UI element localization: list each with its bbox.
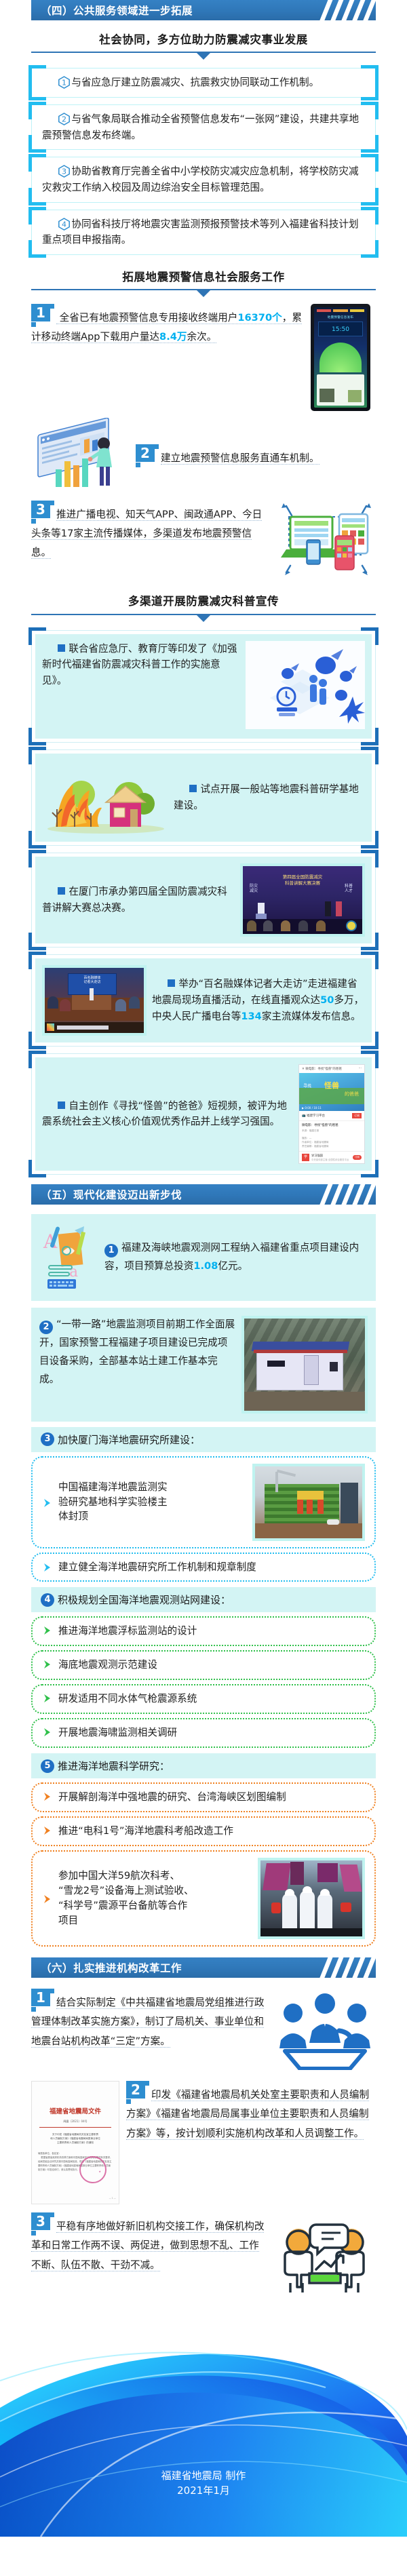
group-head-5: 5推进海洋地震科学研究： [31, 1753, 376, 1778]
construction-site-photo [252, 1464, 365, 1541]
e2-text: 印发《福建省地震局机关处室主要职责和人员编制方案》《福建省地震局局属事业单位主要… [126, 2089, 369, 2140]
b3-text: 推进广播电视、知天气APP、闽政通APP、今日头条等17家主流传播媒体，多渠道发… [31, 509, 262, 558]
group-head-4: 4积极规划全国海洋地震观测站网建设： [31, 1587, 376, 1612]
numeral-badge-3: 3 [31, 501, 54, 524]
earthquake-warning-terminal-photo: 地震预警信息发布 15:50 [311, 304, 376, 411]
slash-decoration-icon [319, 1184, 376, 1205]
arrow-row-5-2: 推进“电科1号”海洋地震科考船改造工作 [31, 1816, 376, 1846]
footer-credit-line-1: 福建省地震局 制作 [0, 2468, 407, 2484]
subheading-warning-service: 拓展地震预警信息社会服务工作 [31, 270, 376, 298]
c2-text: 试点开展一般站等地震科普研学基地建设。 [174, 783, 359, 811]
hex-number-icon-3: 3 [58, 165, 71, 178]
slash-decoration-icon [319, 0, 376, 20]
heading-rule [31, 289, 376, 298]
c4-value-media-count: 134 [241, 1011, 261, 1022]
arrow-5-2-text: 推进“电科1号”海洋地震科考船改造工作 [58, 1824, 233, 1839]
square-bullet-icon [58, 887, 65, 895]
arrow-4-4-text: 开展地震海啸监测相关调研 [58, 1725, 177, 1740]
footer-credit-line-2: 2021年1月 [0, 2483, 407, 2499]
seismic-station-building-photo [241, 1316, 368, 1413]
svg-text:3: 3 [62, 168, 66, 176]
b1-value-terminals: 16370个 [237, 312, 282, 324]
slash-decoration-icon [319, 1957, 376, 1978]
b1-text-part-4: 余次。 [187, 331, 217, 343]
chevron-right-icon [42, 1693, 53, 1704]
svg-text:2: 2 [62, 115, 66, 124]
arrow-row-5-3: 参加中国大洋59航次科考、“雪龙2号”设备海上测试验收、“科学号”震源平台备航等… [31, 1850, 376, 1947]
svg-text:4: 4 [62, 220, 66, 229]
arrow-row-4-2: 海底地震观测示范建设 [31, 1650, 376, 1680]
numeral-badge-2: 2 [126, 2081, 149, 2104]
square-bullet-icon [189, 785, 197, 792]
bracket-card-a1: 1 与省应急厅建立防震减灾、抗震救灾协同联动工作机制。 [31, 68, 376, 98]
group-4-title: 积极规划全国海洋地震观测站网建设： [58, 1593, 231, 1607]
speech-contest-stage-photo: 第四届全国防震减灾科普讲解大赛决赛 防灾减灾 科普人才 [240, 863, 365, 937]
press-conference-photo: 百名融媒体记者大走访 [42, 965, 147, 1036]
footer-credit: 福建省地震局 制作 2021年1月 [0, 2468, 407, 2499]
square-bullet-icon [58, 1101, 65, 1109]
chevron-right-icon [42, 1625, 53, 1636]
circle-number-icon-1: 1 [104, 1244, 118, 1257]
d1-text-part-2: 亿元。 [218, 1260, 248, 1272]
bracket-card-a2: 2 与省气象局联合推动全省预警信息发布“一张网”建设，共建共享地震预警信息发布终… [31, 104, 376, 150]
hex-number-icon-1: 1 [58, 76, 71, 89]
block-b-item-1: 1 全省已有地震预警信息专用接收终端用户16370个，累计移动终端App下载用户… [31, 304, 376, 411]
heading-rule [31, 614, 376, 623]
data-dashboard-illustration [31, 418, 132, 494]
hex-number-icon-4: 4 [58, 218, 71, 231]
group-5-title: 推进海洋地震科学研究： [58, 1759, 170, 1773]
chevron-right-icon [42, 1727, 53, 1738]
hex-number-icon-2: 2 [58, 113, 71, 125]
square-bullet-icon [168, 979, 175, 987]
section-header-bar-6: （六）扎实推进机构改革工作 [31, 1957, 376, 1978]
group-3-title: 加快厦门海洋地震研究所建设： [58, 1432, 200, 1447]
block-b-item-2: 2 建立地震预警信息服务直通车机制。 [31, 418, 376, 494]
caret-down-icon [196, 290, 211, 297]
arrow-3-1-text: 中国福建海洋地震监测实验研究基地科学实验楼主体封顶 [58, 1480, 174, 1525]
research-crew-photo [258, 1858, 365, 1939]
numeral-badge-1: 1 [31, 304, 54, 327]
short-video-app-screenshot: ✕ 微电影：寻找"怪兽"的爸爸⋯ 怪兽 寻找 的爸爸 ▶ 0:00 / 10:1… [298, 1064, 365, 1164]
chevron-right-icon [42, 1825, 53, 1836]
arrow-5-3-text: 参加中国大洋59航次科考、“雪龙2号”设备海上测试验收、“科学号”震源平台备航等… [58, 1869, 194, 1928]
meeting-people-icon [274, 1989, 376, 2073]
arrow-row-3-1: 中国福建海洋地震监测实验研究基地科学实验楼主体封顶 [31, 1456, 376, 1548]
arrow-row-4-4: 开展地震海啸监测相关调研 [31, 1718, 376, 1748]
numeral-badge-1: 1 [31, 1989, 54, 2012]
arrow-row-3-2: 建立健全海洋地震研究所工作机制和规章制度 [31, 1553, 376, 1582]
arrow-row-4-3: 研发适用不同水体气枪震源系统 [31, 1684, 376, 1714]
document-title: 福建省地震局文件 [38, 2106, 113, 2115]
subheading-social-collaboration: 社会协同，多方位助力防震减灾事业发展 [31, 33, 376, 61]
chevron-right-icon [42, 1659, 53, 1670]
arrow-4-2-text: 海底地震观测示范建设 [58, 1658, 157, 1673]
arrow-3-2-text: 建立健全海洋地震研究所工作机制和规章制度 [58, 1560, 256, 1575]
circle-number-icon-5: 5 [41, 1759, 54, 1773]
b2-text: 建立地震预警信息服务直通车机制。 [161, 452, 319, 465]
arrow-5-1-text: 开展解剖海洋中强地震的研究、台湾海峡区划图编制 [58, 1790, 286, 1805]
chevron-right-icon [42, 1498, 53, 1508]
section-title-4: （四）公共服务领域进一步拓展 [31, 3, 193, 18]
c5-text: 自主创作《寻找“怪兽”的爸爸》短视频，被评为地震系统社会主义核心价值观优秀作品并… [42, 1100, 287, 1128]
card-a1-text: 与省应急厅建立防震减灾、抗震救灾协同联动工作机制。 [71, 77, 319, 88]
block-b-item-3: 3 推进广播电视、知天气APP、闽政通APP、今日头条等17家主流传播媒体，多渠… [31, 501, 376, 585]
arrow-row-4-1: 推进海洋地震浮标监测站的设计 [31, 1616, 376, 1646]
arrow-row-5-1: 开展解剖海洋中强地震的研究、台湾海峡区划图编制 [31, 1782, 376, 1812]
e1-text: 结合实际制定《中共福建省地震局党组推进行政管理体制改革实施方案》，制订了局机关、… [31, 1997, 264, 2048]
b1-value-downloads: 8.4万 [159, 331, 187, 343]
arrow-4-1-text: 推进海洋地震浮标监测站的设计 [58, 1624, 197, 1639]
b1-text-part-0: 全省已有地震预警信息专用接收终端用户 [60, 312, 238, 324]
arrow-4-3-text: 研发适用不同水体气枪震源系统 [58, 1692, 197, 1706]
block-e-item-2: 福建省地震局文件 闽震〔2021〕04号 关于印发《福建省地震局机关处室主要职责… [31, 2081, 376, 2204]
circle-number-icon-4: 4 [41, 1593, 54, 1607]
bracket-card-a3: 3 协助省教育厅完善全省中小学校防灾减灾应急机制，将学校防灾减灾救灾工作纳入校园… [31, 157, 376, 202]
circle-number-icon-2: 2 [39, 1321, 53, 1334]
caret-down-icon [196, 52, 211, 60]
teamwork-isometric-illustration [246, 641, 365, 732]
bracket-card-c2: 试点开展一般站等地震科普研学基地建设。 [31, 749, 376, 846]
caret-down-icon [196, 614, 211, 622]
section-header-bar-4: （四）公共服务领域进一步拓展 [31, 0, 376, 20]
official-document-photo: 福建省地震局文件 闽震〔2021〕04号 关于印发《福建省地震局机关处室主要职责… [31, 2081, 119, 2204]
block-e-item-3: 3 平稳有序地做好新旧机构交接工作，确保机构改革和日常工作两不误、两促进，做到思… [31, 2212, 376, 2302]
d2-text: “一带一路”地震监测项目前期工作全面展开，国家预警工程福建子项目建设已完成项目设… [39, 1319, 235, 1385]
subheading-science-popularization: 多渠道开展防震减灾科普宣传 [31, 594, 376, 623]
footer-wave-banner: 福建省地震局 制作 2021年1月 [0, 2320, 407, 2537]
block-d-item-1: A a 1福建及海峡地震观测网工程纳入福建省重点项目建设内容，项目预算总投资1.… [31, 1214, 376, 1301]
chevron-right-icon [42, 1562, 53, 1573]
section-title-5: （五）现代化建设迈出新步伐 [31, 1187, 182, 1202]
section-title-6: （六）扎实推进机构改革工作 [31, 1960, 182, 1975]
square-bullet-icon [58, 644, 65, 652]
bracket-card-c5: 自主创作《寻找“怪兽”的爸爸》短视频，被评为地震系统社会主义核心价值观优秀作品并… [31, 1053, 376, 1175]
c4-text-part-4: 家主流媒体发布信息。 [262, 1011, 361, 1022]
bracket-card-c1: 联合省应急厅、教育厅等印发了《加强新时代福建省防震减灾科普工作的实施意见》。 [31, 630, 376, 743]
c3-text: 在厦门市承办第四届全国防震减灾科普讲解大赛总决赛。 [42, 886, 227, 914]
group-head-3: 3加快厦门海洋地震研究所建设： [31, 1427, 376, 1452]
c4-value-viewers: 50 [320, 994, 334, 1006]
section-header-bar-5: （五）现代化建设迈出新步伐 [31, 1184, 376, 1205]
card-a3-text: 协助省教育厅完善全省中小学校防灾减灾应急机制，将学校防灾减灾救灾工作纳入校园及周… [42, 165, 359, 193]
bracket-card-a4: 4 协同省科技厅将地震灾害监测预报预警技术等列入福建省科技计划重点项目申报指南。 [31, 210, 376, 255]
discussion-people-illustration [274, 2212, 376, 2302]
d1-value-budget: 1.08 [193, 1260, 218, 1272]
multi-device-illustration [274, 501, 376, 585]
chevron-right-icon [42, 1791, 53, 1802]
heading-rule [31, 52, 376, 61]
numeral-badge-2: 2 [136, 444, 159, 467]
bracket-card-c3: 在厦门市承办第四届全国防震减灾科普讲解大赛总决赛。 第四届全国防震减灾科普讲解大… [31, 853, 376, 948]
card-a2-text: 与省气象局联合推动全省预警信息发布“一张网”建设，共建共享地震预警信息发布终端。 [42, 113, 359, 141]
chevron-right-icon [42, 1894, 53, 1905]
c1-text: 联合省应急厅、教育厅等印发了《加强新时代福建省防震减灾科普工作的实施意见》。 [42, 643, 237, 686]
design-tools-illustration: A a [39, 1221, 99, 1294]
card-a4-text: 协同省科技厅将地震灾害监测预报预警技术等列入福建省科技计划重点项目申报指南。 [42, 218, 359, 246]
block-d-item-2: 2“一带一路”地震监测项目前期工作全面展开，国家预警工程福建子项目建设已完成项目… [31, 1308, 376, 1422]
e3-text: 平稳有序地做好新旧机构交接工作，确保机构改革和日常工作两不误、两促进，做到思想不… [31, 2221, 264, 2271]
circle-number-icon-3: 3 [41, 1432, 54, 1446]
bracket-card-c4: 百名融媒体记者大走访 举办“百名融媒体记者大走访”走进福建省地震局现场直播活动，… [31, 954, 376, 1047]
numeral-badge-3: 3 [31, 2212, 54, 2236]
svg-text:1: 1 [62, 79, 66, 87]
block-e-item-1: 1 结合实际制定《中共福建省地震局党组推进行政管理体制改革实施方案》，制订了局机… [31, 1989, 376, 2073]
house-wildfire-illustration [42, 759, 170, 836]
